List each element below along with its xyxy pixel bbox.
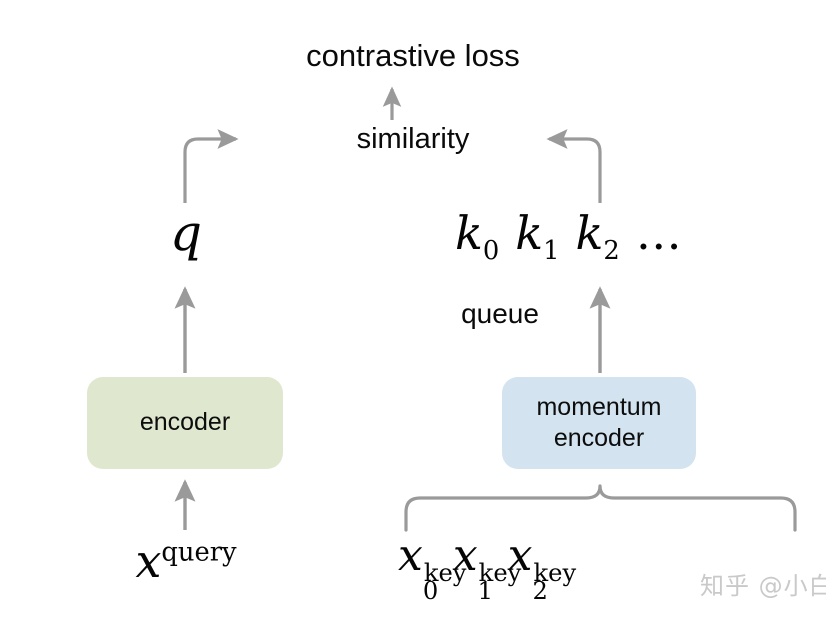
input-query-symbol: xquery xyxy=(0,534,372,588)
momentum-encoder-line-1: momentum xyxy=(536,392,661,423)
input-key-symbol-0: x0key xyxy=(398,530,437,581)
key-symbol-2: k2 xyxy=(576,206,620,260)
similarity-label: similarity xyxy=(0,122,826,156)
input-key-symbols: x0key x1key x2key xyxy=(398,530,548,581)
key-symbol-0: k0 xyxy=(455,206,499,260)
diagram-canvas: contrastive loss similarity queue q k0k1… xyxy=(0,0,826,634)
key-symbols-ellipsis: … xyxy=(636,206,684,260)
encoder-box-label: encoder xyxy=(140,407,230,438)
input-query-base: x xyxy=(135,534,161,588)
encoder-box[interactable]: encoder xyxy=(87,377,283,469)
input-query-superscript: query xyxy=(161,538,236,568)
contrastive-loss-label: contrastive loss xyxy=(0,38,826,75)
key-symbol-1: k1 xyxy=(515,206,559,260)
momentum-encoder-box[interactable]: momentum encoder xyxy=(502,377,696,469)
watermark-text: 知乎 @小白 xyxy=(700,566,826,601)
momentum-encoder-box-label: momentum encoder xyxy=(536,392,661,455)
momentum-encoder-line-2: encoder xyxy=(536,423,661,454)
key-features-symbols: k0k1k2… xyxy=(455,206,684,266)
query-feature-glyph: q xyxy=(170,204,202,262)
queue-label: queue xyxy=(390,297,610,330)
query-feature-symbol: q xyxy=(0,204,372,262)
curly-brace-icon xyxy=(406,486,795,530)
